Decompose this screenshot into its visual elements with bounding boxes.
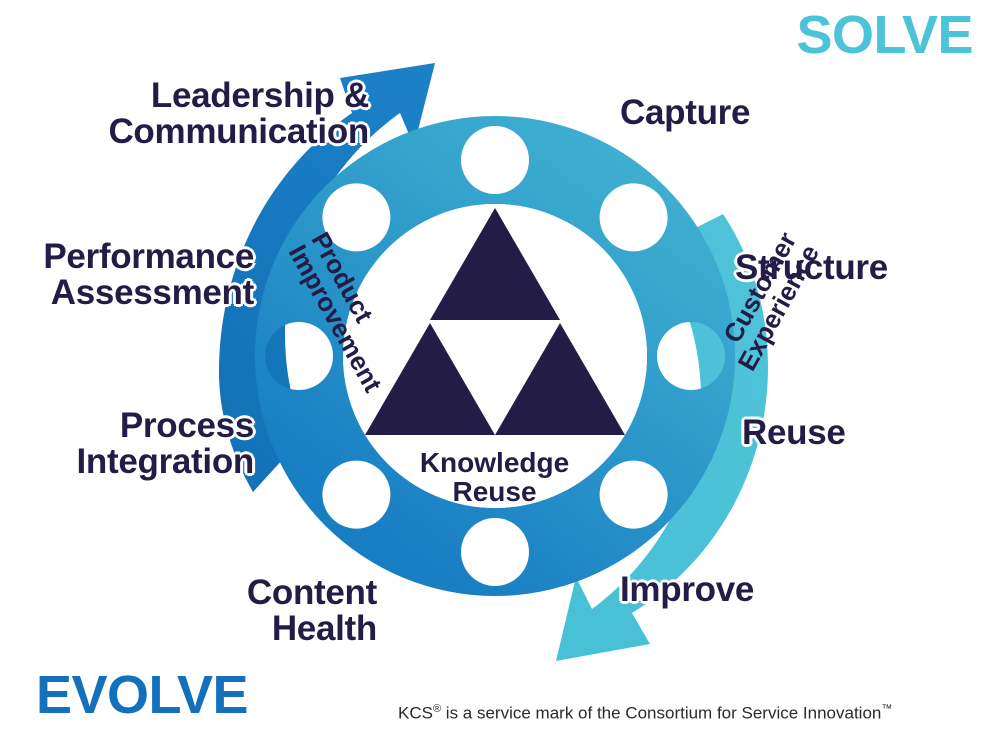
label-line-2: Assessment [43, 275, 254, 311]
trademark-mark: ™ [881, 703, 892, 715]
label-line-1: Performance [43, 239, 254, 275]
label-capture: Capture [620, 95, 750, 131]
label-line-1: Improve [620, 572, 754, 608]
registered-mark: ® [433, 703, 441, 715]
label-improve: Improve [620, 572, 754, 608]
solve-wordmark: SOLVE [796, 8, 973, 62]
evolve-wordmark: EVOLVE [36, 668, 248, 722]
label-line-1: Knowledge [0, 448, 989, 477]
label-knowledge-reuse: Knowledge Reuse [0, 448, 989, 506]
label-line-1: Content [247, 575, 377, 611]
label-line-2: Health [247, 611, 377, 647]
footer-body: is a service mark of the Consortium for … [441, 704, 881, 723]
label-line-1: Process [76, 408, 254, 444]
label-leadership-communication: Leadership & Communication [108, 78, 369, 149]
service-mark-note: KCS® is a service mark of the Consortium… [398, 703, 892, 724]
label-content-health: Content Health [247, 575, 377, 646]
footer-prefix: KCS [398, 704, 433, 723]
label-reuse: Reuse [742, 415, 846, 451]
label-line-2: Reuse [0, 477, 989, 506]
label-line-2: Communication [108, 114, 369, 150]
kcs-double-loop-diagram: SOLVE EVOLVE Leadership & Communication … [0, 0, 989, 739]
label-line-1: Reuse [742, 415, 846, 451]
label-line-1: Capture [620, 95, 750, 131]
label-line-1: Leadership & [108, 78, 369, 114]
label-performance-assessment: Performance Assessment [43, 239, 254, 310]
